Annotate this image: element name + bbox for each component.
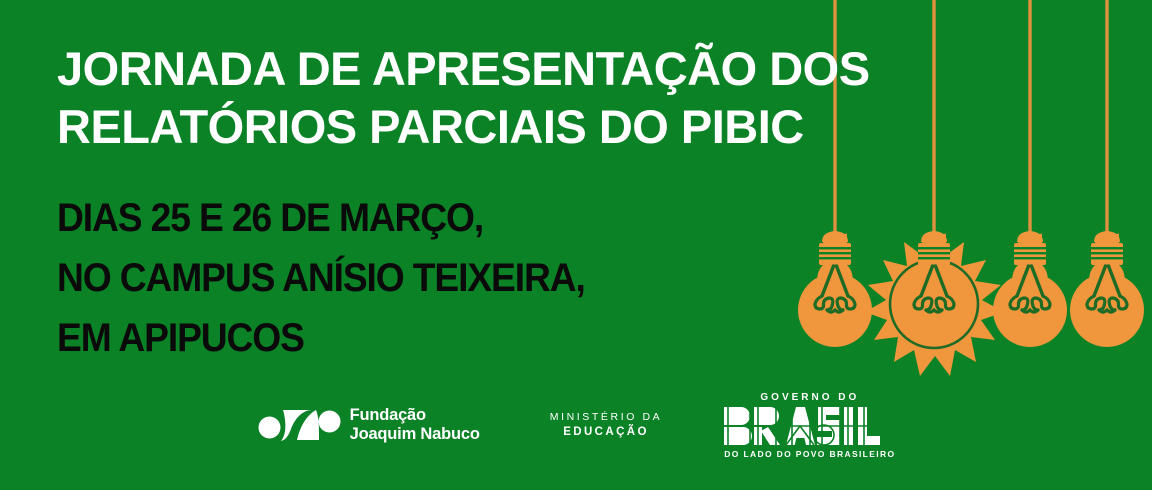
banner-subheadline: DIAS 25 E 26 DE MARÇO, NO CAMPUS ANÍSIO … [57, 188, 782, 368]
hanging-bulb-4 [1070, 0, 1144, 347]
mec-line-1: MINISTÉRIO DA [550, 410, 663, 425]
fundacao-joaquim-nabuco-logo: Fundação Joaquim Nabuco [257, 406, 480, 444]
governo-do-brasil-logo: GOVERNO DO [724, 391, 895, 460]
gov-top-label: GOVERNO DO [724, 391, 895, 404]
banner-headline: JORNADA DE APRESENTAÇÃO DOS RELATÓRIOS P… [57, 40, 1017, 156]
ministerio-da-educacao-logo: MINISTÉRIO DA EDUCAÇÃO [550, 410, 663, 440]
footer-logo-strip: Fundação Joaquim Nabuco MINISTÉRIO DA ED… [0, 385, 1152, 465]
fundaj-wordmark: Fundação Joaquim Nabuco [350, 406, 480, 444]
fundaj-symbol-icon [257, 407, 341, 443]
mec-line-2: EDUCAÇÃO [550, 425, 663, 440]
gov-bottom-label: DO LADO DO POVO BRASILEIRO [724, 448, 895, 460]
brasil-wordmark-icon [724, 407, 882, 445]
event-banner: JORNADA DE APRESENTAÇÃO DOS RELATÓRIOS P… [0, 0, 1152, 490]
